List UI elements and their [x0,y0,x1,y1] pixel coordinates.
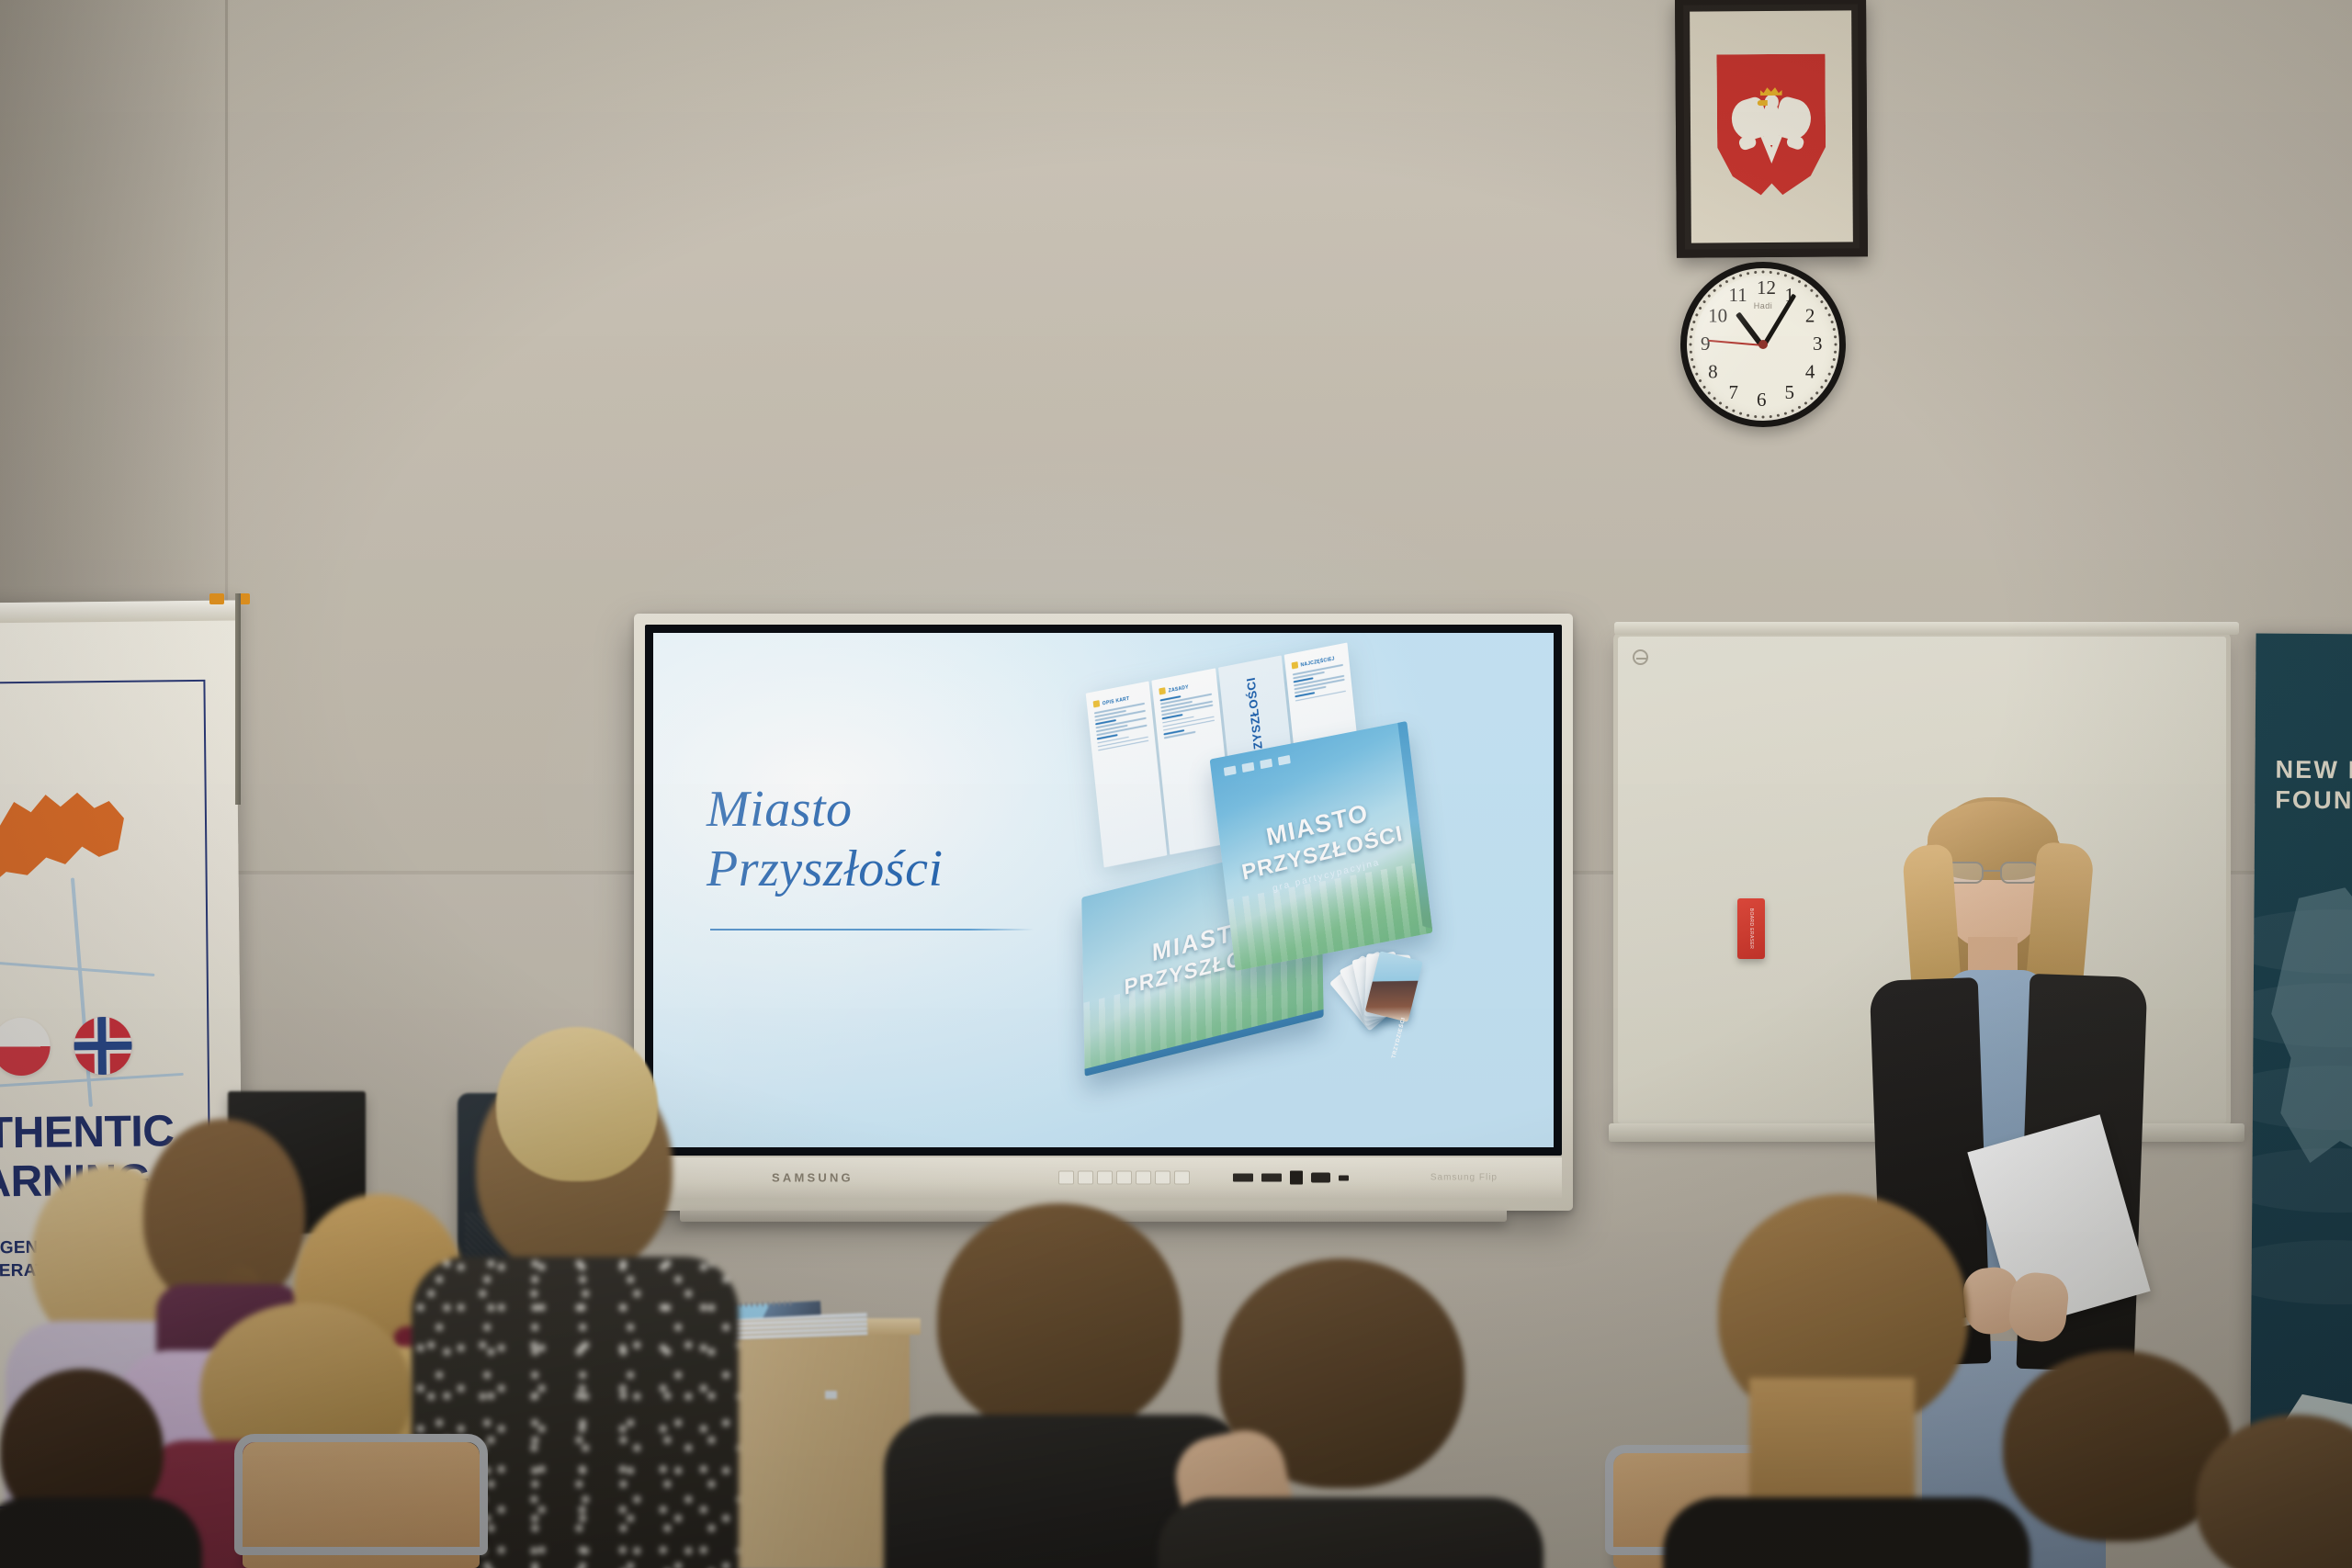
display-control-buttons[interactable] [1058,1171,1190,1185]
audio-jack-icon[interactable] [1339,1175,1349,1180]
brochure-section-label: OPIS KART [1093,692,1145,709]
whiteboard-eraser[interactable]: BOARD ERASER [1737,898,1765,959]
usb-port-icon[interactable] [1233,1174,1253,1182]
brochure-section-icon [1093,700,1101,707]
audience-member-12 [2187,1415,2352,1568]
audience-body-9 [1158,1497,1543,1568]
polish-coat-of-arms-frame [1675,0,1868,258]
flag-poland-icon [0,1018,51,1077]
card-fan: TRZYDZIEŚCI [1339,943,1449,1044]
audience-hair-12 [2196,1415,2352,1568]
brochure-section-label-3: NAJCZĘŚCIEJ [1291,653,1342,671]
audience-member-10 [1690,1194,1994,1568]
usb-port-icon-2[interactable] [1261,1174,1282,1182]
flag-norway-icon [73,1017,132,1076]
slide-title-underline [710,929,1034,931]
audience-member-7 [478,1027,671,1220]
white-eagle-icon [1730,83,1814,172]
classroom-scene: Hadi 121234567891011 Miasto Przyszłości [0,0,2352,1568]
chair-1[interactable] [243,1442,480,1568]
brochure-section-icon-3 [1291,661,1298,669]
podium-latch[interactable] [825,1391,837,1399]
slide-artwork: OPIS KART ZASADY [991,640,1543,1147]
display-button-enter[interactable] [1174,1171,1190,1185]
display-button-power[interactable] [1058,1171,1074,1185]
banner-left-top-cap [0,600,236,623]
presenter-glasses-icon [1943,862,2042,884]
display-model-label: Samsung Flip [1430,1173,1498,1183]
clock-center-pin [1758,340,1768,349]
banner-left-pole [235,593,241,805]
presentation-slide: Miasto Przyszłości OPIS KART [653,633,1554,1147]
emblem-mat [1690,10,1853,243]
audience-body-5 [0,1497,202,1568]
clock-numeral: 9 [1701,333,1711,355]
audience-member-5 [0,1369,184,1568]
display-button-menu[interactable] [1097,1171,1113,1185]
audience-body-10 [1663,1497,2030,1568]
clock-numeral: 8 [1708,361,1718,384]
samsung-brand-label: SAMSUNG [772,1171,854,1185]
whiteboard-top-rail [1614,622,2239,635]
audience-hair-8 [937,1203,1182,1435]
brochure-section-icon-2 [1159,687,1167,694]
clock-brand-label: Hadi [1754,301,1773,310]
clock-numeral: 3 [1813,333,1823,355]
display-button-down[interactable] [1136,1171,1151,1185]
display-bezel: Miasto Przyszłości OPIS KART [645,625,1562,1156]
whiteboard-corner-screw-icon [1633,649,1648,665]
display-button-up[interactable] [1116,1171,1132,1185]
clock-numeral: 10 [1708,305,1727,328]
audience-member-8 [910,1203,1213,1568]
clock-numeral: 4 [1805,361,1815,384]
banner-right-title: NEW ERA FOUNDATION [2275,755,2352,818]
audience-member-9 [1194,1258,1498,1568]
banner-right-title-line1: NEW ERA [2275,755,2352,787]
clock-numeral: 12 [1757,276,1776,299]
rj45-port-icon[interactable] [1290,1171,1303,1185]
display-button-volume[interactable] [1155,1171,1170,1185]
display-port-cluster[interactable] [1233,1171,1349,1185]
wall-clock: Hadi 121234567891011 [1680,262,1846,427]
game-box-standing: MIASTO PRZYSZŁOŚCI gra partycypacyjna [1210,721,1433,971]
samsung-interactive-display[interactable]: Miasto Przyszłości OPIS KART [634,614,1573,1211]
hdmi-port-icon[interactable] [1311,1173,1330,1183]
banner-left-flags [0,1017,132,1077]
box-sponsor-logos [1224,755,1291,776]
banner-left-cap-a [209,593,224,604]
banner-right-title-line2: FOUNDATION [2275,785,2352,818]
display-bottom-bezel: SAMSUNG Samsung Flip [645,1157,1562,1198]
card-label: TRZYDZIEŚCI [1391,1017,1407,1059]
clock-numeral: 2 [1805,305,1815,328]
clock-numeral: 7 [1729,381,1739,404]
clock-numeral: 6 [1757,389,1767,412]
brochure-section-label-2: ZASADY [1159,679,1211,696]
whiteboard-eraser-label: BOARD ERASER [1748,908,1754,950]
display-button-source[interactable] [1078,1171,1093,1185]
clock-numeral: 11 [1729,284,1747,307]
emblem-shield [1716,54,1826,200]
audience-hair-7-blonde-curly [496,1027,658,1181]
podium-cabinet [726,1330,910,1568]
clock-numeral: 5 [1785,381,1795,404]
